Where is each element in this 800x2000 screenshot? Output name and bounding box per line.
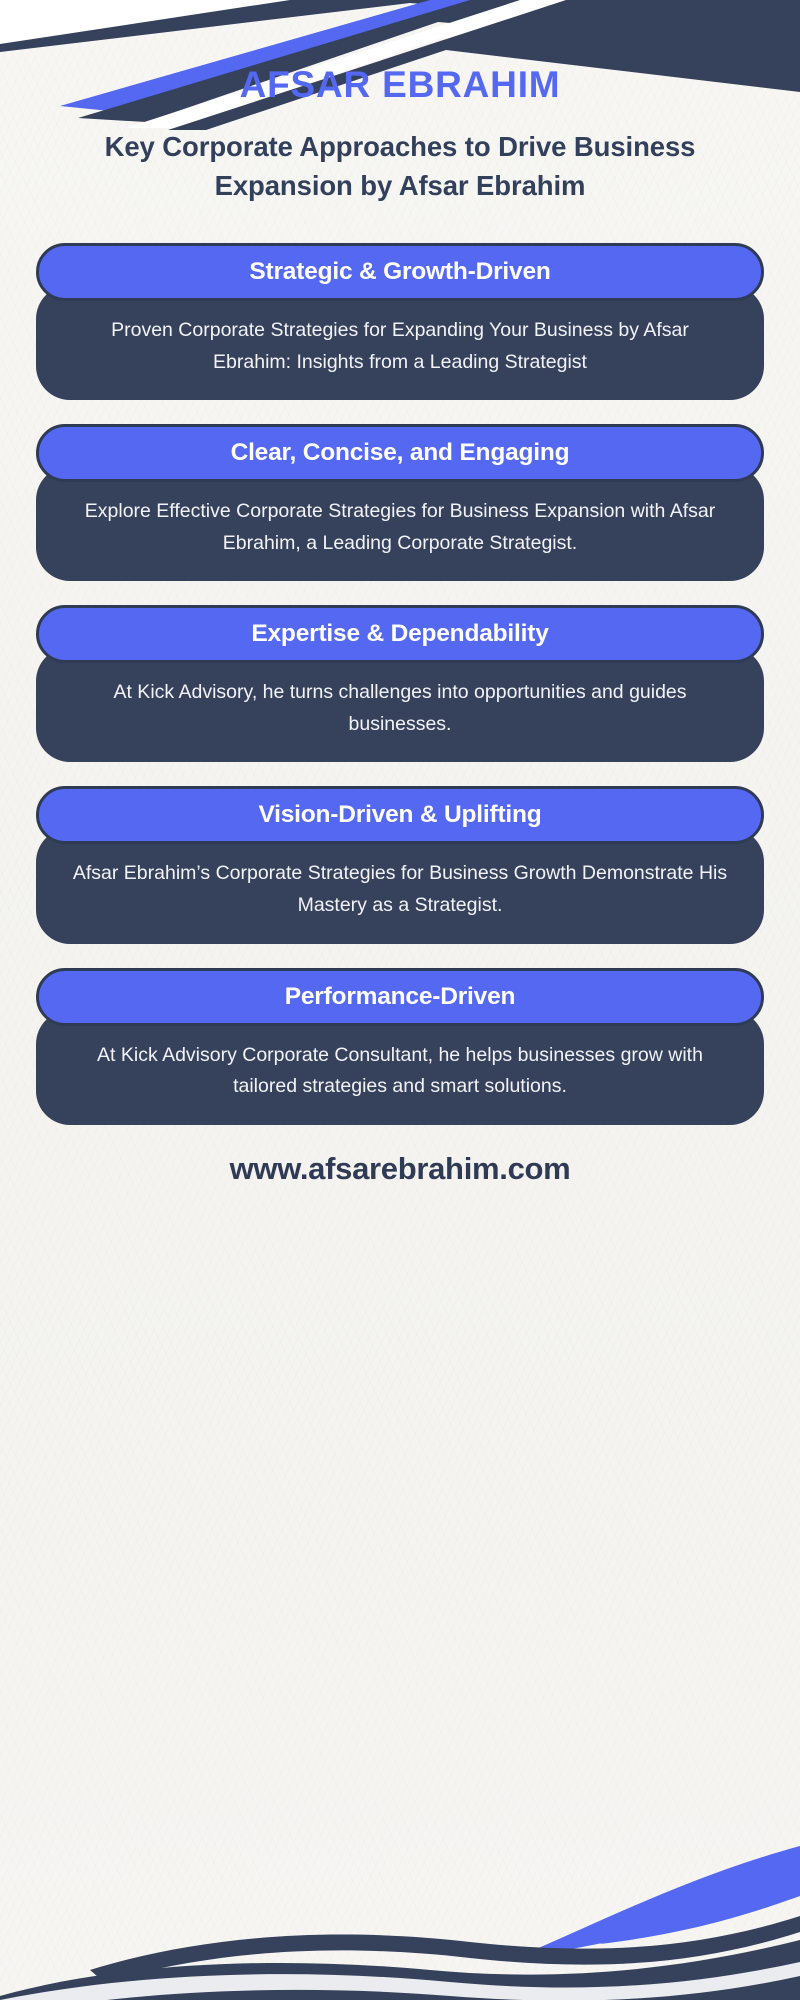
bottom-navy-wave-fill [0,1940,800,2000]
card-item: Vision-Driven & Uplifting Afsar Ebrahim’… [36,786,764,943]
card-item: Clear, Concise, and Engaging Explore Eff… [36,424,764,581]
website-url[interactable]: www.afsarebrahim.com [0,1151,800,1187]
card-title-pill[interactable]: Expertise & Dependability [36,605,764,663]
card-item: Expertise & Dependability At Kick Adviso… [36,605,764,762]
card-body-text: Proven Corporate Strategies for Expandin… [36,285,764,400]
card-body-text: Afsar Ebrahim’s Corporate Strategies for… [36,828,764,943]
card-title-pill[interactable]: Vision-Driven & Uplifting [36,786,764,844]
card-body-text: At Kick Advisory Corporate Consultant, h… [36,1010,764,1125]
card-title-pill[interactable]: Performance-Driven [36,968,764,1026]
card-list: Strategic & Growth-Driven Proven Corpora… [0,243,800,1125]
card-title-pill[interactable]: Clear, Concise, and Engaging [36,424,764,482]
infographic-poster: AFSAR EBRAHIM Key Corporate Approaches t… [0,0,800,2000]
bottom-navy-wave-thin [90,1916,800,1982]
page-title: Key Corporate Approaches to Drive Busine… [90,127,710,205]
bottom-blue-swoosh [600,1858,800,1944]
poster-footer: www.afsarebrahim.com [0,1151,800,1187]
card-item: Performance-Driven At Kick Advisory Corp… [36,968,764,1125]
bottom-wave-decoration [0,1840,800,2000]
card-body-text: Explore Effective Corporate Strategies f… [36,466,764,581]
bottom-white-wave [0,1962,800,2000]
card-item: Strategic & Growth-Driven Proven Corpora… [36,243,764,400]
brand-name: AFSAR EBRAHIM [0,66,800,105]
card-body-text: At Kick Advisory, he turns challenges in… [36,647,764,762]
card-title-pill[interactable]: Strategic & Growth-Driven [36,243,764,301]
bottom-blue-swoosh-2 [520,1846,800,1956]
poster-header: AFSAR EBRAHIM Key Corporate Approaches t… [0,0,800,205]
